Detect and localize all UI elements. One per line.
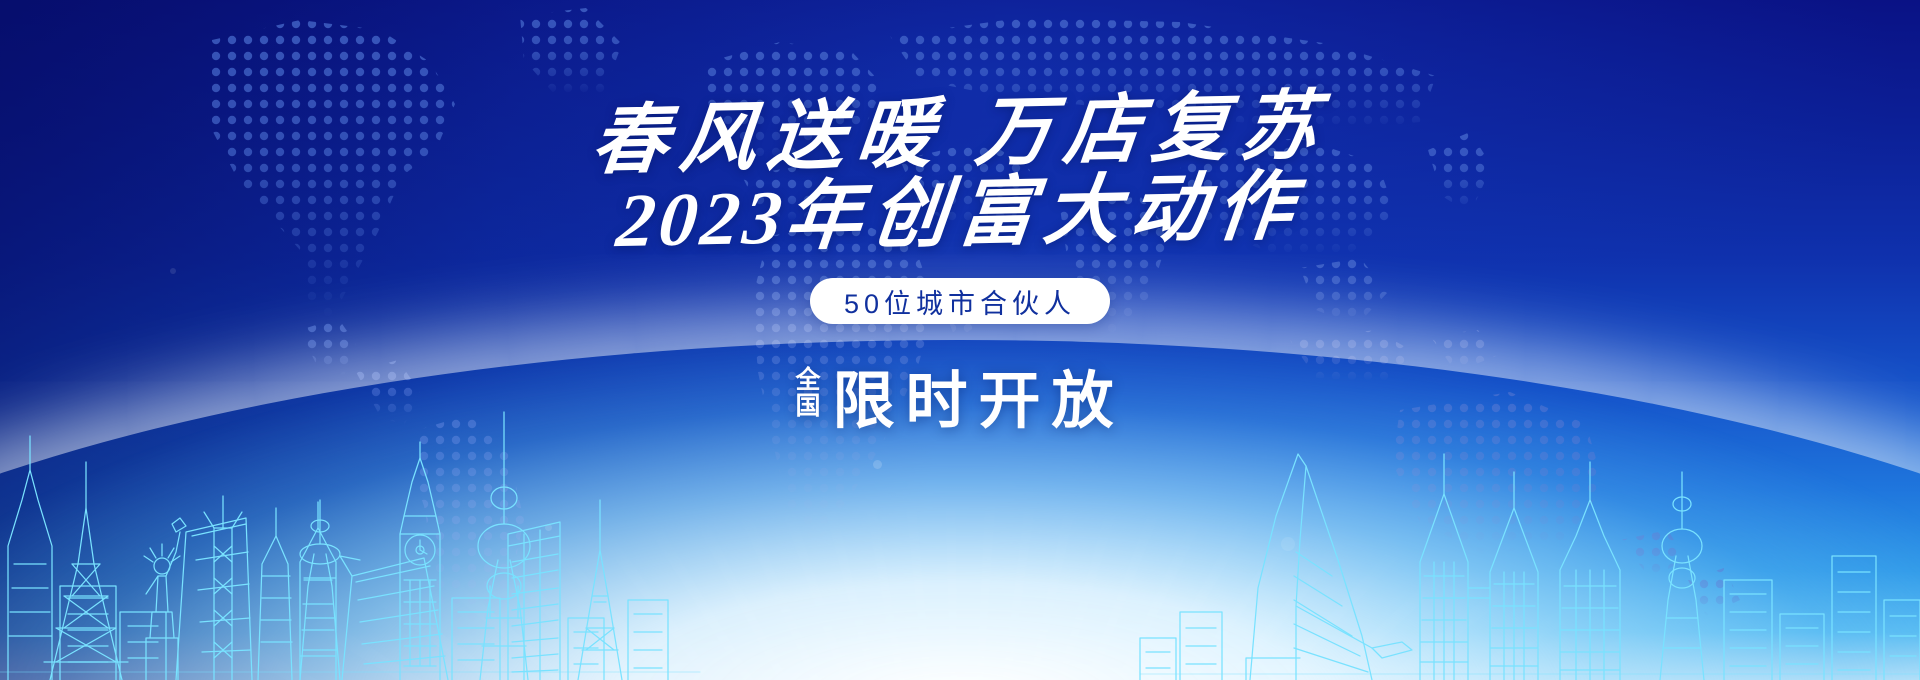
scope-char-bottom: 国 (795, 394, 820, 420)
headline-year: 2023 (613, 176, 790, 263)
partner-count-badge[interactable]: 50位城市合伙人 (810, 278, 1110, 324)
cta-text: 限时开放 (833, 350, 1125, 440)
cta-line: 全 国 限时开放 (795, 350, 1124, 440)
scope-label: 全 国 (795, 368, 820, 422)
headline-secondary-text: 年创富大动作 (781, 165, 1307, 260)
promo-banner: 春风送暖 万店复苏 2023年创富大动作 50位城市合伙人 全 国 限时开放 (0, 0, 1920, 680)
headline-secondary: 2023年创富大动作 (613, 169, 1306, 259)
banner-content: 春风送暖 万店复苏 2023年创富大动作 50位城市合伙人 全 国 限时开放 (0, 0, 1920, 680)
scope-char-top: 全 (795, 368, 820, 394)
